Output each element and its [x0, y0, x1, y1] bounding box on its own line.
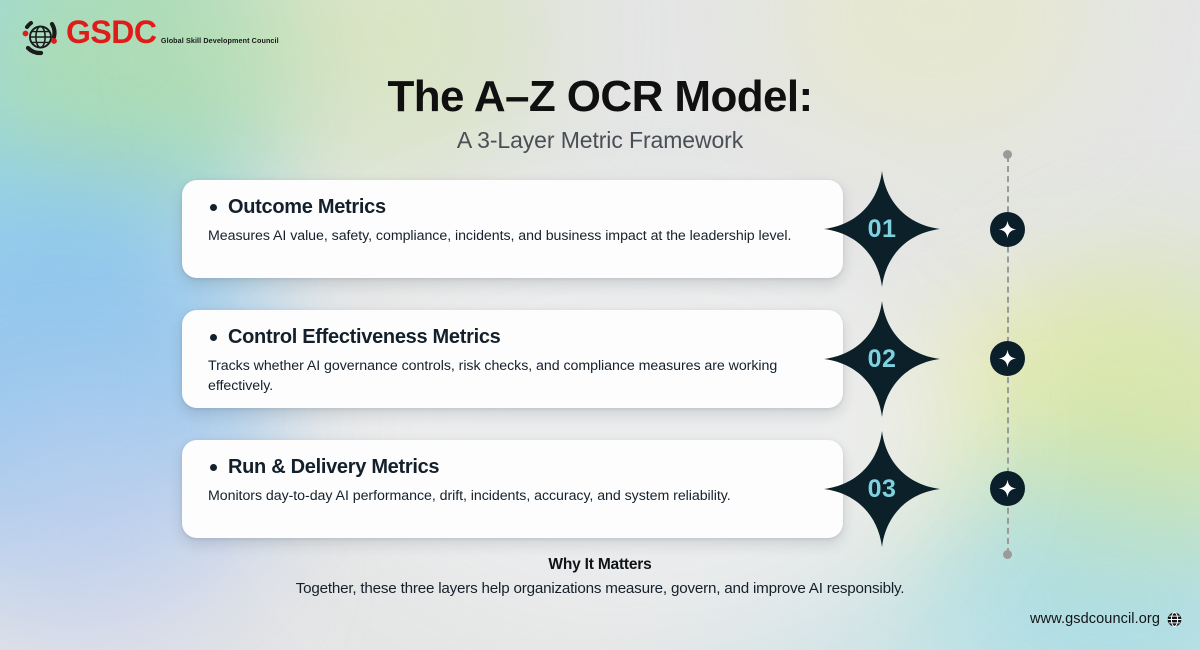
timeline-node-1[interactable] — [990, 212, 1025, 247]
brand-logo[interactable]: GSDC Global Skill Development Council — [18, 14, 279, 60]
background-blob-green-bottom-right — [1010, 250, 1200, 550]
card-title: Outcome Metrics — [228, 196, 821, 218]
step-number: 01 — [868, 215, 897, 244]
logo-text: GSDC Global Skill Development Council — [66, 16, 279, 48]
step-badge-02: 02 — [822, 299, 942, 419]
card-description: Monitors day-to-day AI performance, drif… — [208, 486, 821, 506]
globe-orbit-icon — [18, 14, 64, 60]
progress-timeline — [988, 150, 1028, 560]
website-link[interactable]: www.gsdcouncil.org — [1030, 611, 1182, 627]
why-it-matters-text: Together, these three layers help organi… — [0, 580, 1200, 597]
diamond-icon — [998, 479, 1017, 498]
step-number: 03 — [868, 475, 897, 504]
logo-wordmark: GSDC — [66, 14, 156, 50]
card-title-text: Control Effectiveness Metrics — [228, 326, 501, 348]
page-title: The A–Z OCR Model: — [0, 72, 1200, 122]
timeline-node-3[interactable] — [990, 471, 1025, 506]
card-description: Tracks whether AI governance controls, r… — [208, 356, 821, 397]
website-url-text: www.gsdcouncil.org — [1030, 611, 1160, 627]
card-description: Measures AI value, safety, compliance, i… — [208, 226, 821, 246]
metric-card-outcome[interactable]: Outcome Metrics Measures AI value, safet… — [182, 180, 843, 278]
card-title: Run & Delivery Metrics — [228, 456, 821, 478]
logo-tagline: Global Skill Development Council — [161, 36, 279, 45]
timeline-start-dot — [1003, 150, 1012, 159]
card-title: Control Effectiveness Metrics — [228, 326, 821, 348]
card-title-text: Outcome Metrics — [228, 196, 386, 218]
bullet-icon — [210, 334, 217, 341]
timeline-node-2[interactable] — [990, 341, 1025, 376]
metric-card-control-effectiveness[interactable]: Control Effectiveness Metrics Tracks whe… — [182, 310, 843, 408]
why-it-matters-heading: Why It Matters — [0, 556, 1200, 574]
diamond-icon — [998, 220, 1017, 239]
bullet-icon — [210, 204, 217, 211]
step-badge-03: 03 — [822, 429, 942, 549]
metric-card-run-delivery[interactable]: Run & Delivery Metrics Monitors day-to-d… — [182, 440, 843, 538]
infographic-canvas: GSDC Global Skill Development Council Th… — [0, 0, 1200, 650]
bullet-icon — [210, 464, 217, 471]
globe-icon — [1167, 612, 1182, 627]
step-badge-01: 01 — [822, 169, 942, 289]
step-number: 02 — [868, 345, 897, 374]
card-title-text: Run & Delivery Metrics — [228, 456, 439, 478]
diamond-icon — [998, 349, 1017, 368]
